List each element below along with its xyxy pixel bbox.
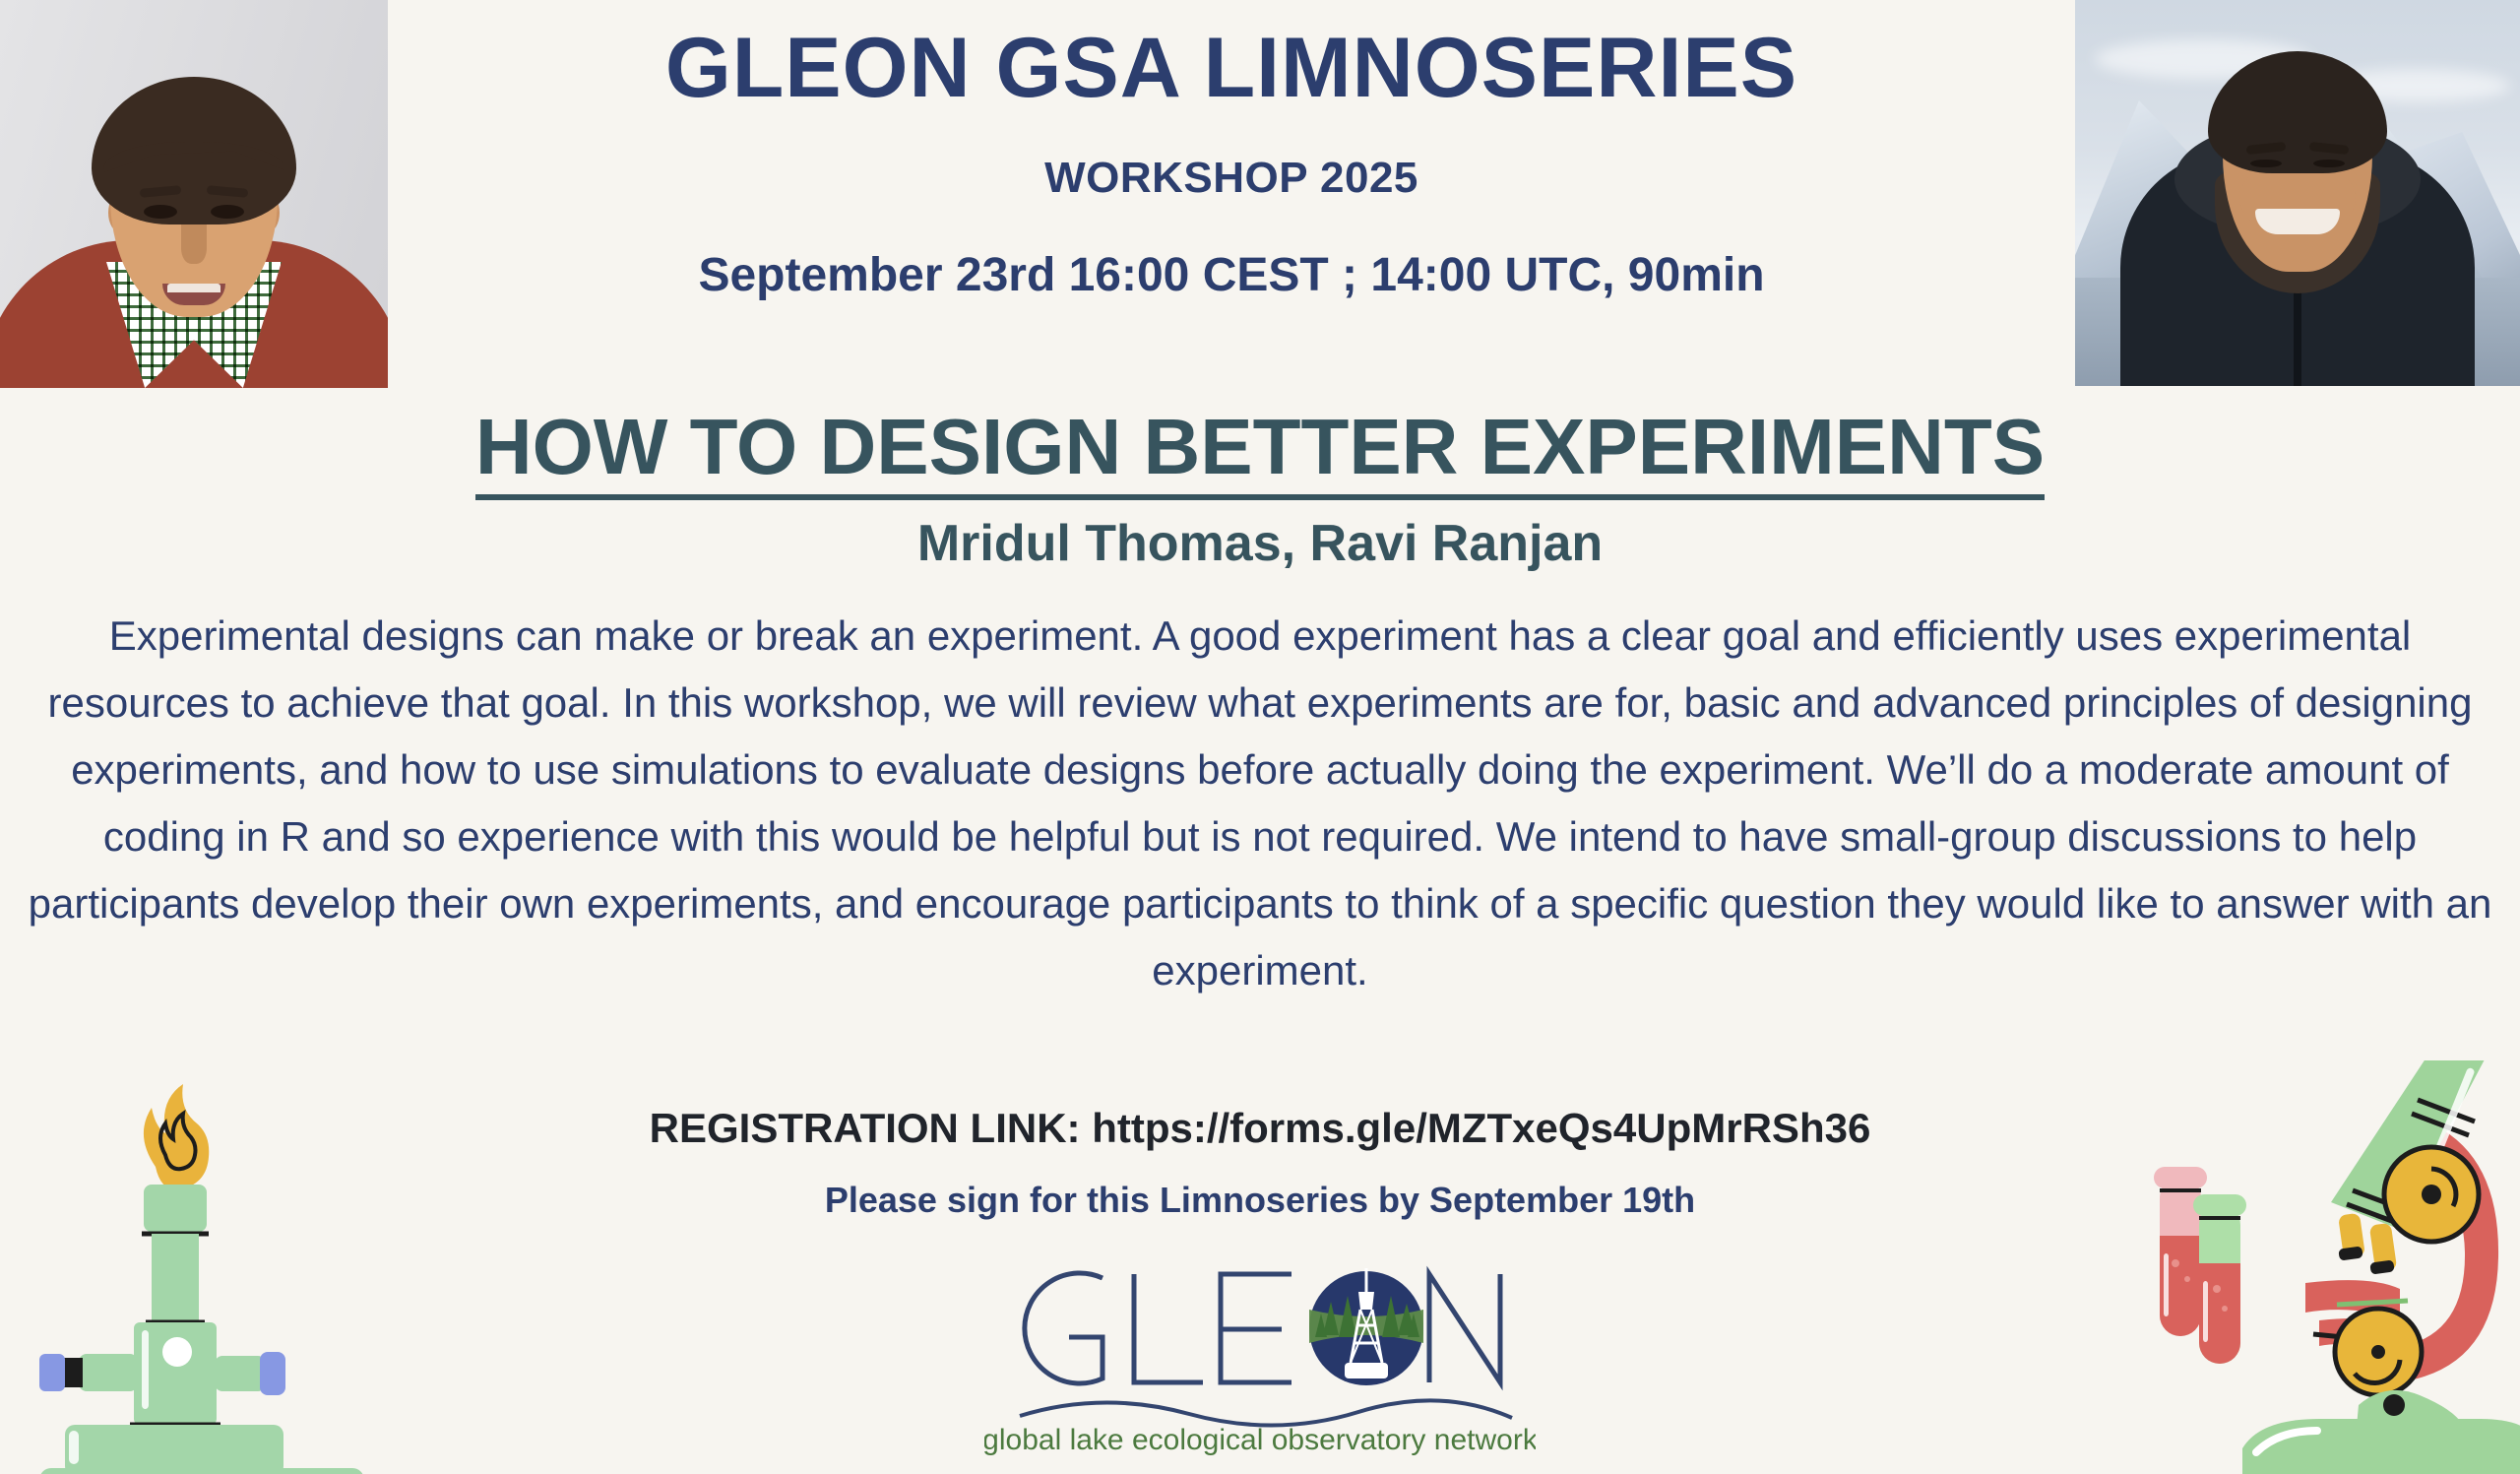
photo-right-smile bbox=[2255, 209, 2340, 234]
header-text-block: GLEON GSA LIMNOSERIES WORKSHOP 2025 Sept… bbox=[388, 0, 2075, 386]
burner-air-hole bbox=[162, 1337, 192, 1367]
test-tube-green bbox=[2193, 1194, 2246, 1364]
speaker-photo-right bbox=[2075, 0, 2520, 386]
logo-letter-l bbox=[1134, 1274, 1203, 1382]
burner-valve-arm bbox=[215, 1356, 266, 1391]
gleon-logo-svg: global lake ecological observatory netwo… bbox=[984, 1252, 1536, 1459]
poster-canvas: GLEON GSA LIMNOSERIES WORKSHOP 2025 Sept… bbox=[0, 0, 2520, 1474]
burner-knob bbox=[260, 1352, 285, 1395]
burner-base-lower bbox=[39, 1468, 364, 1474]
microscope-icon bbox=[2126, 1060, 2520, 1474]
logo-letter-e bbox=[1221, 1274, 1291, 1382]
speaker-photo-left bbox=[0, 0, 388, 388]
photo-left-teeth bbox=[167, 284, 220, 292]
talk-headline: HOW TO DESIGN BETTER EXPERIMENTS bbox=[0, 402, 2520, 492]
talk-abstract: Experimental designs can make or break a… bbox=[28, 603, 2492, 1004]
burner-hose-connector bbox=[39, 1354, 65, 1391]
series-title: GLEON GSA LIMNOSERIES bbox=[665, 24, 1797, 112]
microscope-fine-knob bbox=[2335, 1309, 2422, 1395]
logo-tagline: global lake ecological observatory netwo… bbox=[984, 1424, 1536, 1456]
gleon-logo: global lake ecological observatory netwo… bbox=[984, 1252, 1536, 1459]
logo-letter-g bbox=[1025, 1273, 1102, 1383]
logo-buoy-base bbox=[1345, 1363, 1388, 1378]
test-tube-pink bbox=[2154, 1167, 2207, 1336]
event-datetime: September 23rd 16:00 CEST ; 14:00 UTC, 9… bbox=[698, 248, 1764, 302]
burner-inlet-left bbox=[79, 1354, 138, 1391]
photo-left-eye-left bbox=[144, 205, 177, 219]
bunsen-burner-icon bbox=[39, 1060, 364, 1474]
logo-letter-n bbox=[1429, 1274, 1500, 1382]
photo-right-eye-left bbox=[2250, 160, 2282, 167]
microscope-coarse-knob bbox=[2384, 1147, 2479, 1242]
burner-barrel bbox=[152, 1234, 199, 1322]
talk-headline-text: HOW TO DESIGN BETTER EXPERIMENTS bbox=[475, 403, 2045, 500]
photo-left-eye-right bbox=[211, 205, 244, 219]
burner-top-collar bbox=[144, 1185, 207, 1232]
logo-wave bbox=[1020, 1400, 1512, 1425]
photo-right-eye-right bbox=[2313, 160, 2345, 167]
talk-authors: Mridul Thomas, Ravi Ranjan bbox=[0, 514, 2520, 573]
microscope-base bbox=[2242, 1390, 2520, 1474]
burner-base-upper bbox=[65, 1425, 283, 1474]
logo-lake-globe-icon bbox=[1309, 1268, 1423, 1385]
photo-left-nose bbox=[181, 224, 207, 264]
workshop-year: WORKSHOP 2025 bbox=[1044, 154, 1418, 203]
burner-flame bbox=[144, 1084, 209, 1189]
